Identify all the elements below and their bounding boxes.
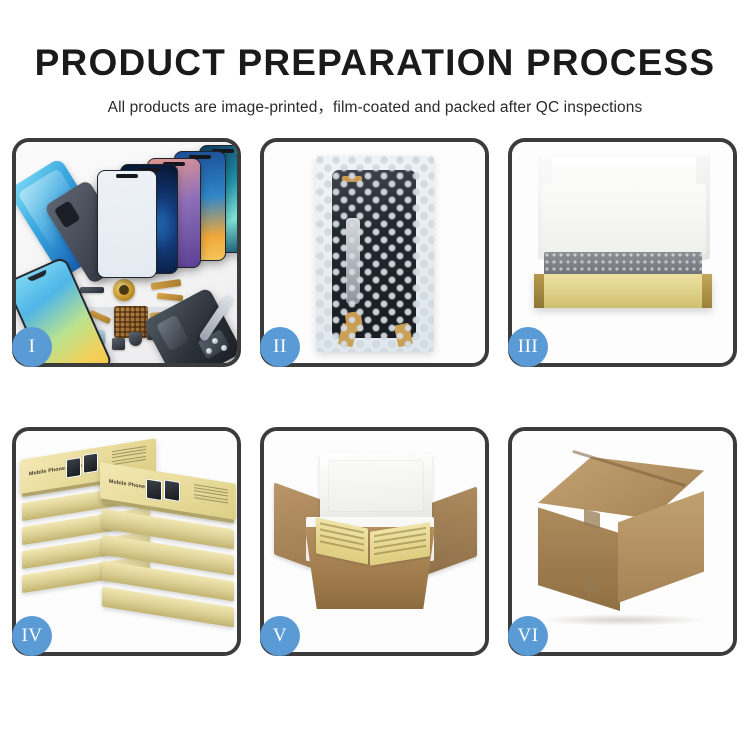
kraft-box-base xyxy=(534,274,712,308)
screw-part xyxy=(212,338,218,344)
vibrator-motor-part xyxy=(129,332,142,346)
step-image-phone-parts-assortment xyxy=(16,142,237,363)
screw-part xyxy=(221,345,227,351)
step-panel-v: V xyxy=(260,427,489,656)
notch-icon xyxy=(27,270,47,283)
step-panel-iii: III xyxy=(508,138,737,367)
box-phone-thumbnail xyxy=(66,457,81,478)
step-panel-ii: II xyxy=(260,138,489,367)
step-badge-iii: III xyxy=(508,327,548,367)
step-image-bubble-wrapped-screen xyxy=(264,142,485,363)
speaker-coil-part xyxy=(113,279,135,301)
ground-shadow xyxy=(538,614,706,626)
phone-display-white xyxy=(97,170,157,278)
foam-lid xyxy=(320,453,432,521)
step-image-open-inner-box-with-foam xyxy=(512,142,733,363)
box-phone-thumbnail xyxy=(83,452,98,473)
screw-part xyxy=(206,348,212,354)
chip-part xyxy=(112,338,125,350)
step-image-sealed-shipping-carton xyxy=(512,431,733,652)
process-steps-grid: I II III xyxy=(12,138,738,694)
step-badge-iv: IV xyxy=(12,616,52,656)
box-stack: Mobile Phone Spare Parts Mobile Phone Sp… xyxy=(16,431,237,652)
infographic-page: PRODUCT PREPARATION PROCESS All products… xyxy=(0,0,750,750)
step-image-carton-with-foam-liner xyxy=(264,431,485,652)
bubble-shading-layer xyxy=(316,156,434,352)
box-phone-thumbnail xyxy=(146,479,162,502)
carton-left-face xyxy=(538,503,620,611)
step-panel-iv: Mobile Phone Spare Parts Mobile Phone Sp… xyxy=(12,427,241,656)
step-badge-i: I xyxy=(12,327,52,367)
page-title: PRODUCT PREPARATION PROCESS xyxy=(0,44,750,81)
bubble-wrap-bag xyxy=(316,156,434,352)
step-badge-vi: VI xyxy=(508,616,548,656)
page-subtitle: All products are image-printed，film-coat… xyxy=(0,95,750,117)
box-phone-thumbnail xyxy=(164,479,180,502)
flex-cable-part xyxy=(157,293,183,302)
step-badge-ii: II xyxy=(260,327,300,367)
header: PRODUCT PREPARATION PROCESS All products… xyxy=(0,0,750,117)
step-panel-vi: VI xyxy=(508,427,737,656)
notch-icon xyxy=(116,174,138,178)
step-image-stacked-printed-boxes: Mobile Phone Spare Parts Mobile Phone Sp… xyxy=(16,431,237,652)
flex-cable-part xyxy=(151,279,182,290)
step-panel-i: I xyxy=(12,138,241,367)
box-spec-lines xyxy=(194,484,228,505)
white-foam-backing xyxy=(542,184,706,254)
step-badge-v: V xyxy=(260,616,300,656)
connector-part xyxy=(80,287,104,293)
